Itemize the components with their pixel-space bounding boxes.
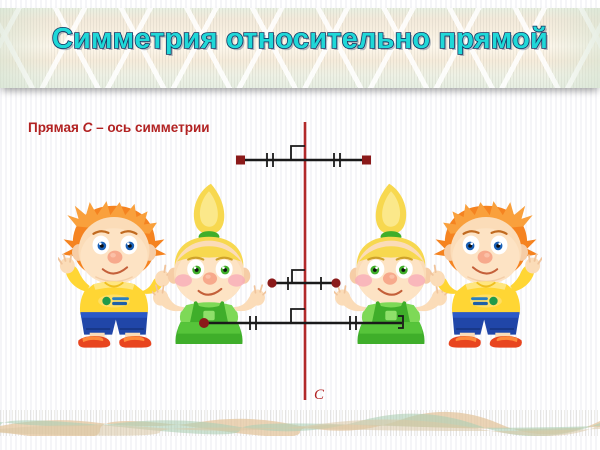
boy-left-figure [58, 201, 172, 348]
boy-right-figure [428, 201, 542, 348]
bottom-decorative-ribbon [0, 410, 600, 436]
characters-group [58, 184, 542, 363]
bottom-segment-point-left [199, 318, 209, 328]
top-right-angle-mark [291, 146, 305, 160]
middle-segment-point-right [331, 278, 340, 287]
symmetry-diagram: С [0, 0, 600, 450]
bottom-right-angle-mark [291, 309, 305, 323]
top-segment [236, 146, 371, 167]
top-segment-point-right [362, 156, 371, 165]
middle-right-angle-mark [292, 270, 305, 283]
axis-label: С [314, 387, 325, 403]
top-segment-point-left [236, 156, 245, 165]
middle-segment-point-left [267, 278, 276, 287]
slide-canvas: Симметрия относительно прямой Прямая С –… [0, 0, 600, 450]
